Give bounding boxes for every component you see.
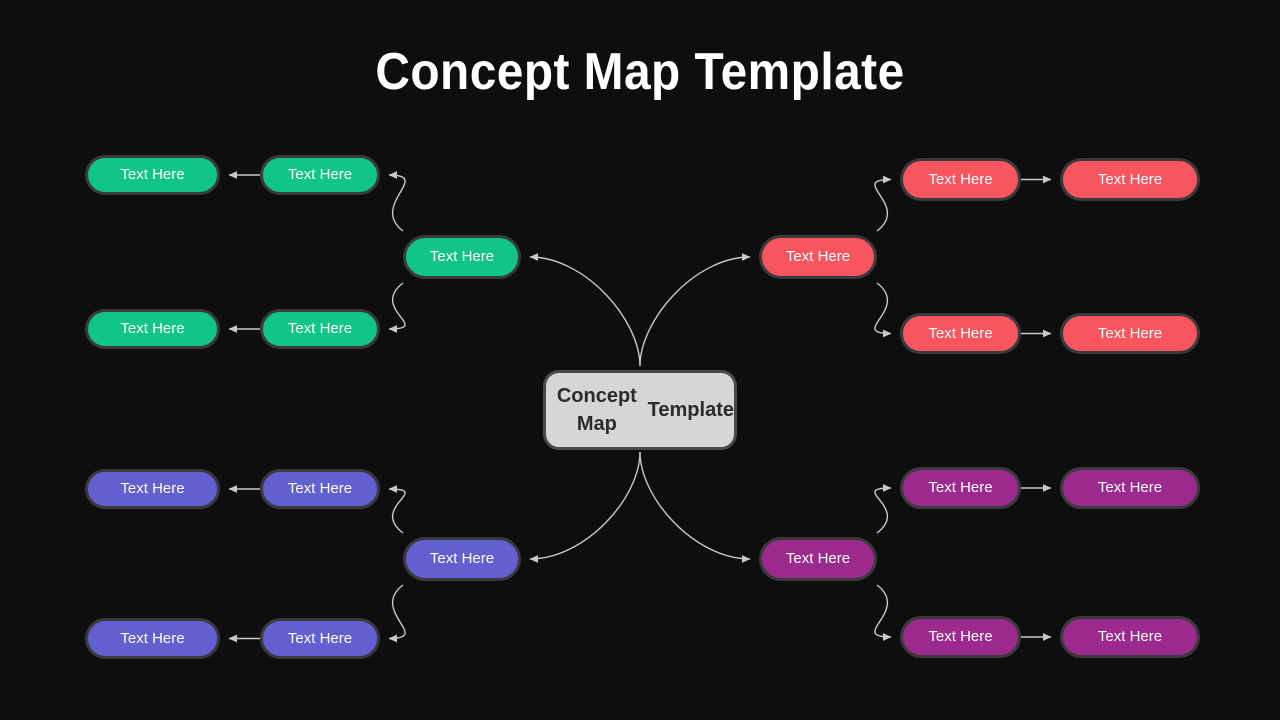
connector-edge	[530, 257, 640, 366]
connector-edge	[875, 283, 891, 334]
connector-edge	[389, 283, 405, 329]
connector-edge	[875, 488, 891, 533]
branch-node-top-right-1[interactable]: Text Here	[900, 313, 1021, 354]
leaf-node-bottom-left-0[interactable]: Text Here	[85, 469, 220, 509]
branch-node-bottom-right-1[interactable]: Text Here	[900, 616, 1021, 658]
connector-edge	[640, 452, 750, 559]
branch-hub-top-right[interactable]: Text Here	[759, 235, 877, 279]
center-node-line1: Concept Map	[546, 382, 648, 438]
branch-hub-bottom-right[interactable]: Text Here	[759, 537, 877, 581]
concept-map-canvas: Concept Map Template Concept MapTemplate…	[0, 0, 1280, 720]
leaf-node-bottom-right-1[interactable]: Text Here	[1060, 616, 1200, 658]
connector-edge	[640, 257, 750, 366]
leaf-node-bottom-right-0[interactable]: Text Here	[1060, 467, 1200, 509]
leaf-node-top-left-1[interactable]: Text Here	[85, 309, 220, 349]
connector-edge	[389, 175, 405, 231]
branch-node-bottom-right-0[interactable]: Text Here	[900, 467, 1021, 509]
branch-node-bottom-left-0[interactable]: Text Here	[260, 469, 380, 509]
connector-edge	[389, 585, 405, 639]
branch-node-top-left-1[interactable]: Text Here	[260, 309, 380, 349]
branch-node-bottom-left-1[interactable]: Text Here	[260, 618, 380, 659]
center-node-line2: Template	[648, 396, 734, 424]
branch-hub-bottom-left[interactable]: Text Here	[403, 537, 521, 581]
connector-edge	[389, 489, 405, 533]
connector-edge	[875, 585, 891, 637]
page-title: Concept Map Template	[51, 42, 1229, 102]
edge-layer	[0, 0, 1280, 720]
center-node[interactable]: Concept MapTemplate	[543, 370, 737, 450]
leaf-node-top-right-0[interactable]: Text Here	[1060, 158, 1200, 201]
leaf-node-top-right-1[interactable]: Text Here	[1060, 313, 1200, 354]
leaf-node-bottom-left-1[interactable]: Text Here	[85, 618, 220, 659]
branch-node-top-right-0[interactable]: Text Here	[900, 158, 1021, 201]
branch-node-top-left-0[interactable]: Text Here	[260, 155, 380, 195]
branch-hub-top-left[interactable]: Text Here	[403, 235, 521, 279]
leaf-node-top-left-0[interactable]: Text Here	[85, 155, 220, 195]
connector-edge	[530, 452, 640, 559]
connector-edge	[875, 180, 891, 232]
